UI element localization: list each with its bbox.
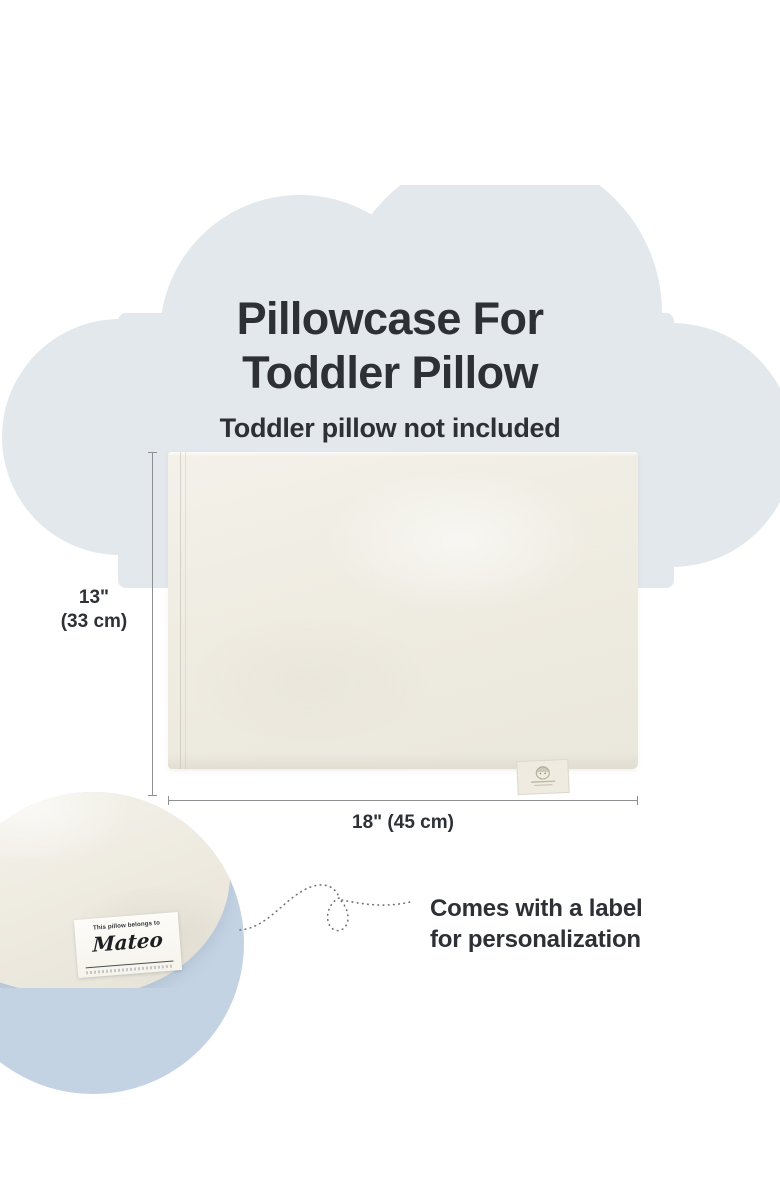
height-inches-text: 13" (46, 586, 142, 610)
width-dimension-line (168, 796, 638, 805)
height-dim-cap-bottom (148, 795, 157, 796)
height-cm-text: (33 cm) (46, 610, 142, 634)
pillowcase-sheen (168, 452, 638, 769)
height-dimension-line (148, 452, 157, 796)
width-dim-bar (168, 800, 638, 801)
pillowcase-product (168, 452, 638, 769)
height-dimension-label: 13" (33 cm) (46, 586, 142, 634)
pillowcase-seam-outer (180, 452, 181, 769)
infographic-canvas: Pillowcase For Toddler Pillow Toddler pi… (0, 0, 780, 1196)
width-dimension-label: 18" (45 cm) (243, 812, 563, 834)
caption-line-1: Comes with a label (430, 893, 750, 924)
page-title-line-2: Toddler Pillow (0, 346, 780, 400)
personalization-label: This pillow belongs to Mateo (74, 912, 182, 978)
pillowcase-seam-inner (185, 452, 186, 769)
caption-line-2: for personalization (430, 924, 750, 955)
dotted-connector-arrow (238, 862, 438, 952)
width-dim-cap-right (637, 796, 638, 805)
subtitle: Toddler pillow not included (0, 413, 780, 444)
page-title-line-1: Pillowcase For (0, 292, 780, 346)
feature-caption: Comes with a label for personalization (430, 893, 750, 955)
brand-tag-icon (516, 759, 569, 795)
height-dim-bar (152, 452, 153, 796)
pillowcase-top-edge (168, 452, 638, 456)
headline-block: Pillowcase For Toddler Pillow Toddler pi… (0, 292, 780, 444)
